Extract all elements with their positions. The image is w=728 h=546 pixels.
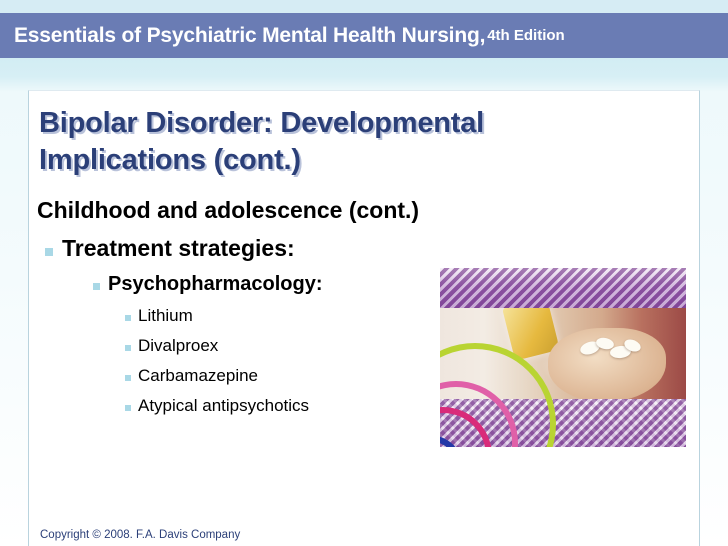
list-item: Childhood and adolescence (cont.) [37, 195, 687, 225]
list-item-label: Carbamazepine [138, 365, 258, 388]
square-bullet-icon [125, 315, 131, 321]
square-bullet-icon [125, 375, 131, 381]
pills-group [580, 338, 644, 364]
concentric-arcs-decoration [440, 345, 562, 447]
square-bullet-icon [93, 283, 100, 290]
list-item: Treatment strategies: [37, 233, 687, 264]
header-bar: Essentials of Psychiatric Mental Health … [0, 13, 728, 58]
copyright-footer: Copyright © 2008. F.A. Davis Company [40, 529, 240, 541]
square-bullet-icon [125, 345, 131, 351]
pills-photo [440, 268, 686, 447]
top-decorative-strip [0, 0, 728, 13]
square-bullet-icon [125, 405, 131, 411]
square-bullet-icon [45, 248, 53, 256]
header-underband [0, 58, 728, 92]
list-item-label: Psychopharmacology: [108, 271, 323, 298]
page-title: Bipolar Disorder: Developmental Implicat… [39, 105, 639, 179]
header-edition-label: 4th Edition [487, 27, 565, 44]
list-item-label: Lithium [138, 305, 193, 328]
list-item-label: Divalproex [138, 335, 218, 358]
list-item-label: Atypical antipsychotics [138, 395, 309, 418]
chevron-band-top [440, 268, 686, 308]
list-item-label: Treatment strategies: [62, 233, 295, 264]
list-item-label: Childhood and adolescence (cont.) [37, 197, 419, 223]
header-title: Essentials of Psychiatric Mental Health … [14, 24, 485, 48]
slide-canvas: Essentials of Psychiatric Mental Health … [0, 0, 728, 546]
